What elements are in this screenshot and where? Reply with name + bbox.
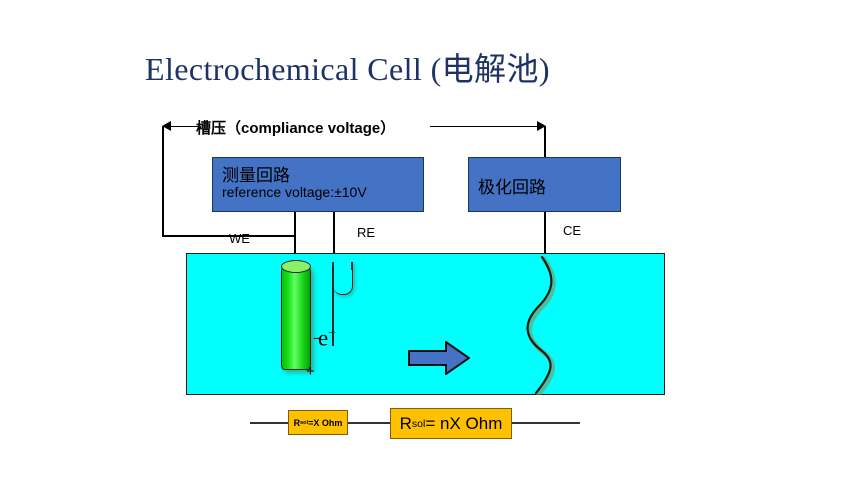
polarization-circuit-title: 极化回路 bbox=[478, 173, 546, 198]
compliance-drop-left bbox=[162, 126, 164, 236]
measurement-circuit-title: 测量回路 bbox=[222, 161, 290, 186]
resistor-large-value: = nX Ohm bbox=[425, 414, 502, 434]
resistor-small: Rsol=X Ohm bbox=[288, 410, 348, 435]
slide-canvas: Electrochemical Cell (电解池) 槽压（compliance… bbox=[0, 0, 853, 480]
page-title: Electrochemical Cell (电解池) bbox=[145, 44, 550, 90]
electrode-label-re: RE bbox=[357, 225, 375, 240]
ion-flow-arrow-icon bbox=[408, 341, 470, 375]
resistor-small-value: =X Ohm bbox=[308, 418, 342, 428]
resistor-small-subscript: sol bbox=[300, 420, 308, 426]
compliance-voltage-label: 槽压（compliance voltage） bbox=[196, 117, 395, 138]
resistor-large: Rsol = nX Ohm bbox=[390, 408, 512, 439]
working-electrode-top-cap bbox=[281, 260, 311, 273]
ce-lead-wire bbox=[544, 212, 546, 257]
resistor-large-subscript: sol bbox=[412, 418, 425, 430]
compliance-line-right bbox=[430, 126, 545, 127]
resistor-wire-middle bbox=[348, 422, 390, 424]
polarization-circuit-box[interactable]: 极化回路 bbox=[468, 157, 621, 212]
resistor-wire-right bbox=[512, 422, 580, 424]
resistor-wire-left bbox=[250, 422, 288, 424]
resistor-large-symbol: R bbox=[400, 414, 412, 434]
electrode-label-we: WE bbox=[229, 231, 250, 246]
electron-symbol: e bbox=[318, 326, 328, 351]
reference-electrode-hook-tip bbox=[351, 262, 353, 270]
positive-sign-label: + bbox=[306, 363, 315, 380]
electrode-label-ce: CE bbox=[563, 223, 581, 238]
reference-electrode-hook bbox=[333, 262, 353, 295]
working-electrode-cylinder bbox=[281, 266, 311, 370]
measurement-circuit-subtitle: reference voltage:±10V bbox=[222, 184, 367, 200]
counter-electrode-wave-icon bbox=[520, 255, 590, 395]
measurement-circuit-box[interactable]: 测量回路 reference voltage:±10V bbox=[212, 157, 424, 212]
